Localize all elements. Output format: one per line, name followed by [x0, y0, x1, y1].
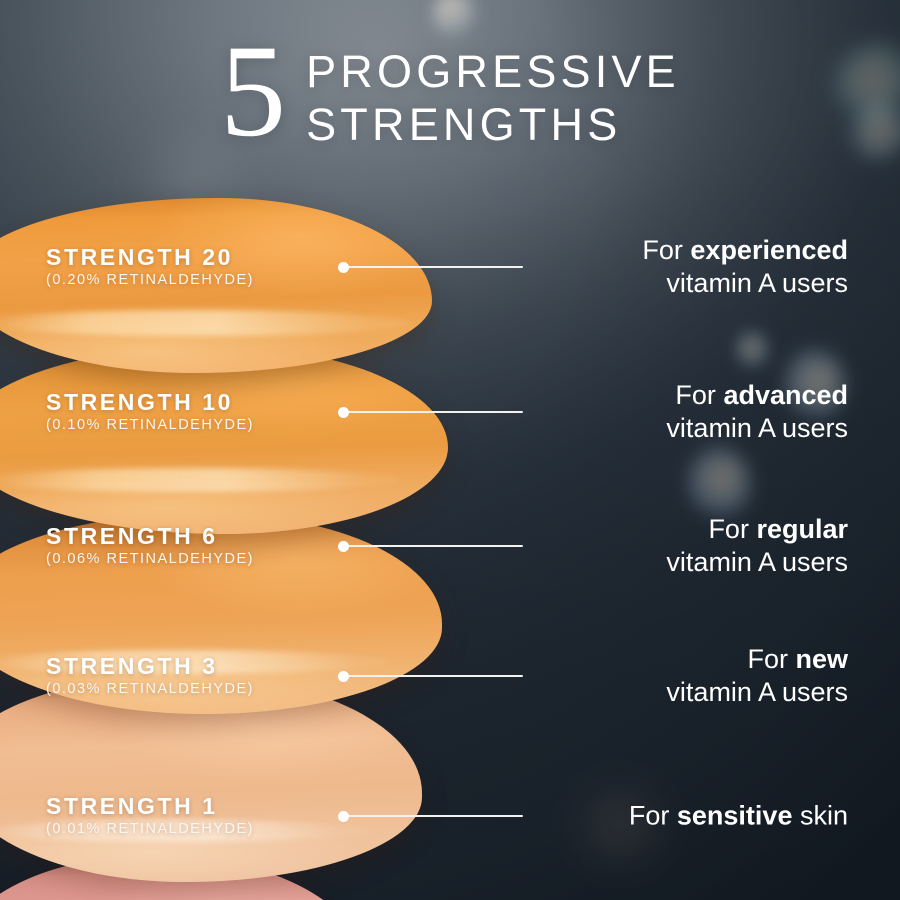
connector-dot-icon — [338, 407, 349, 418]
connector-dot-icon — [338, 262, 349, 273]
strength-concentration: (0.03% RETINALDEHYDE) — [46, 682, 254, 698]
strength-name: STRENGTH 6 — [46, 524, 254, 548]
connector-dot-icon — [338, 811, 349, 822]
strength-description: For newvitamin A users — [666, 643, 848, 709]
description-line1: For regular — [666, 513, 848, 546]
strength-concentration: (0.06% RETINALDEHYDE) — [46, 552, 254, 568]
strength-concentration: (0.01% RETINALDEHYDE) — [46, 822, 254, 838]
description-line2: vitamin A users — [666, 676, 848, 709]
connector-rule — [343, 675, 523, 677]
description-emphasis: sensitive — [677, 801, 793, 831]
description-emphasis: experienced — [690, 235, 848, 265]
connector-rule — [343, 815, 523, 817]
description-emphasis: regular — [756, 514, 848, 544]
description-emphasis: new — [795, 644, 848, 674]
product-infographic: 5 PROGRESSIVE STRENGTHS STRENGTH 20(0.20… — [0, 0, 900, 900]
strength-description: For regularvitamin A users — [666, 513, 848, 579]
strength-left-label: STRENGTH 6(0.06% RETINALDEHYDE) — [46, 524, 254, 568]
connector-rule — [343, 266, 523, 268]
description-line1: For sensitive skin — [629, 800, 848, 833]
strength-left-label: STRENGTH 1(0.01% RETINALDEHYDE) — [46, 794, 254, 838]
strength-description: For sensitive skin — [629, 800, 848, 833]
description-line2: vitamin A users — [642, 267, 848, 300]
connector-line — [338, 540, 523, 552]
strength-name: STRENGTH 3 — [46, 654, 254, 678]
strength-name: STRENGTH 20 — [46, 245, 254, 269]
description-line2: vitamin A users — [666, 412, 848, 445]
strength-concentration: (0.20% RETINALDEHYDE) — [46, 273, 254, 289]
connector-rule — [343, 545, 523, 547]
strength-left-label: STRENGTH 20(0.20% RETINALDEHYDE) — [46, 245, 254, 289]
connector-line — [338, 406, 523, 418]
connector-line — [338, 810, 523, 822]
description-line1: For experienced — [642, 234, 848, 267]
description-prefix: For — [747, 644, 795, 674]
description-prefix: For — [642, 235, 690, 265]
headline-title-line1: PROGRESSIVE — [306, 46, 680, 99]
connector-rule — [343, 411, 523, 413]
connector-dot-icon — [338, 671, 349, 682]
strength-name: STRENGTH 1 — [46, 794, 254, 818]
description-line1: For advanced — [666, 379, 848, 412]
description-line2: vitamin A users — [666, 546, 848, 579]
description-prefix: For — [675, 380, 723, 410]
strength-left-label: STRENGTH 3(0.03% RETINALDEHYDE) — [46, 654, 254, 698]
strength-description: For advancedvitamin A users — [666, 379, 848, 445]
description-prefix: For — [708, 514, 756, 544]
description-emphasis: advanced — [723, 380, 848, 410]
header: 5 PROGRESSIVE STRENGTHS — [0, 34, 900, 151]
strength-concentration: (0.10% RETINALDEHYDE) — [46, 418, 254, 434]
headline-number: 5 — [220, 30, 284, 151]
connector-line — [338, 261, 523, 273]
description-suffix: skin — [792, 801, 848, 831]
connector-dot-icon — [338, 541, 349, 552]
description-line1: For new — [666, 643, 848, 676]
connector-line — [338, 670, 523, 682]
headline-title: PROGRESSIVE STRENGTHS — [306, 34, 680, 151]
strength-left-label: STRENGTH 10(0.10% RETINALDEHYDE) — [46, 390, 254, 434]
description-prefix: For — [629, 801, 677, 831]
headline-title-line2: STRENGTHS — [306, 99, 680, 152]
strength-name: STRENGTH 10 — [46, 390, 254, 414]
strength-description: For experiencedvitamin A users — [642, 234, 848, 300]
